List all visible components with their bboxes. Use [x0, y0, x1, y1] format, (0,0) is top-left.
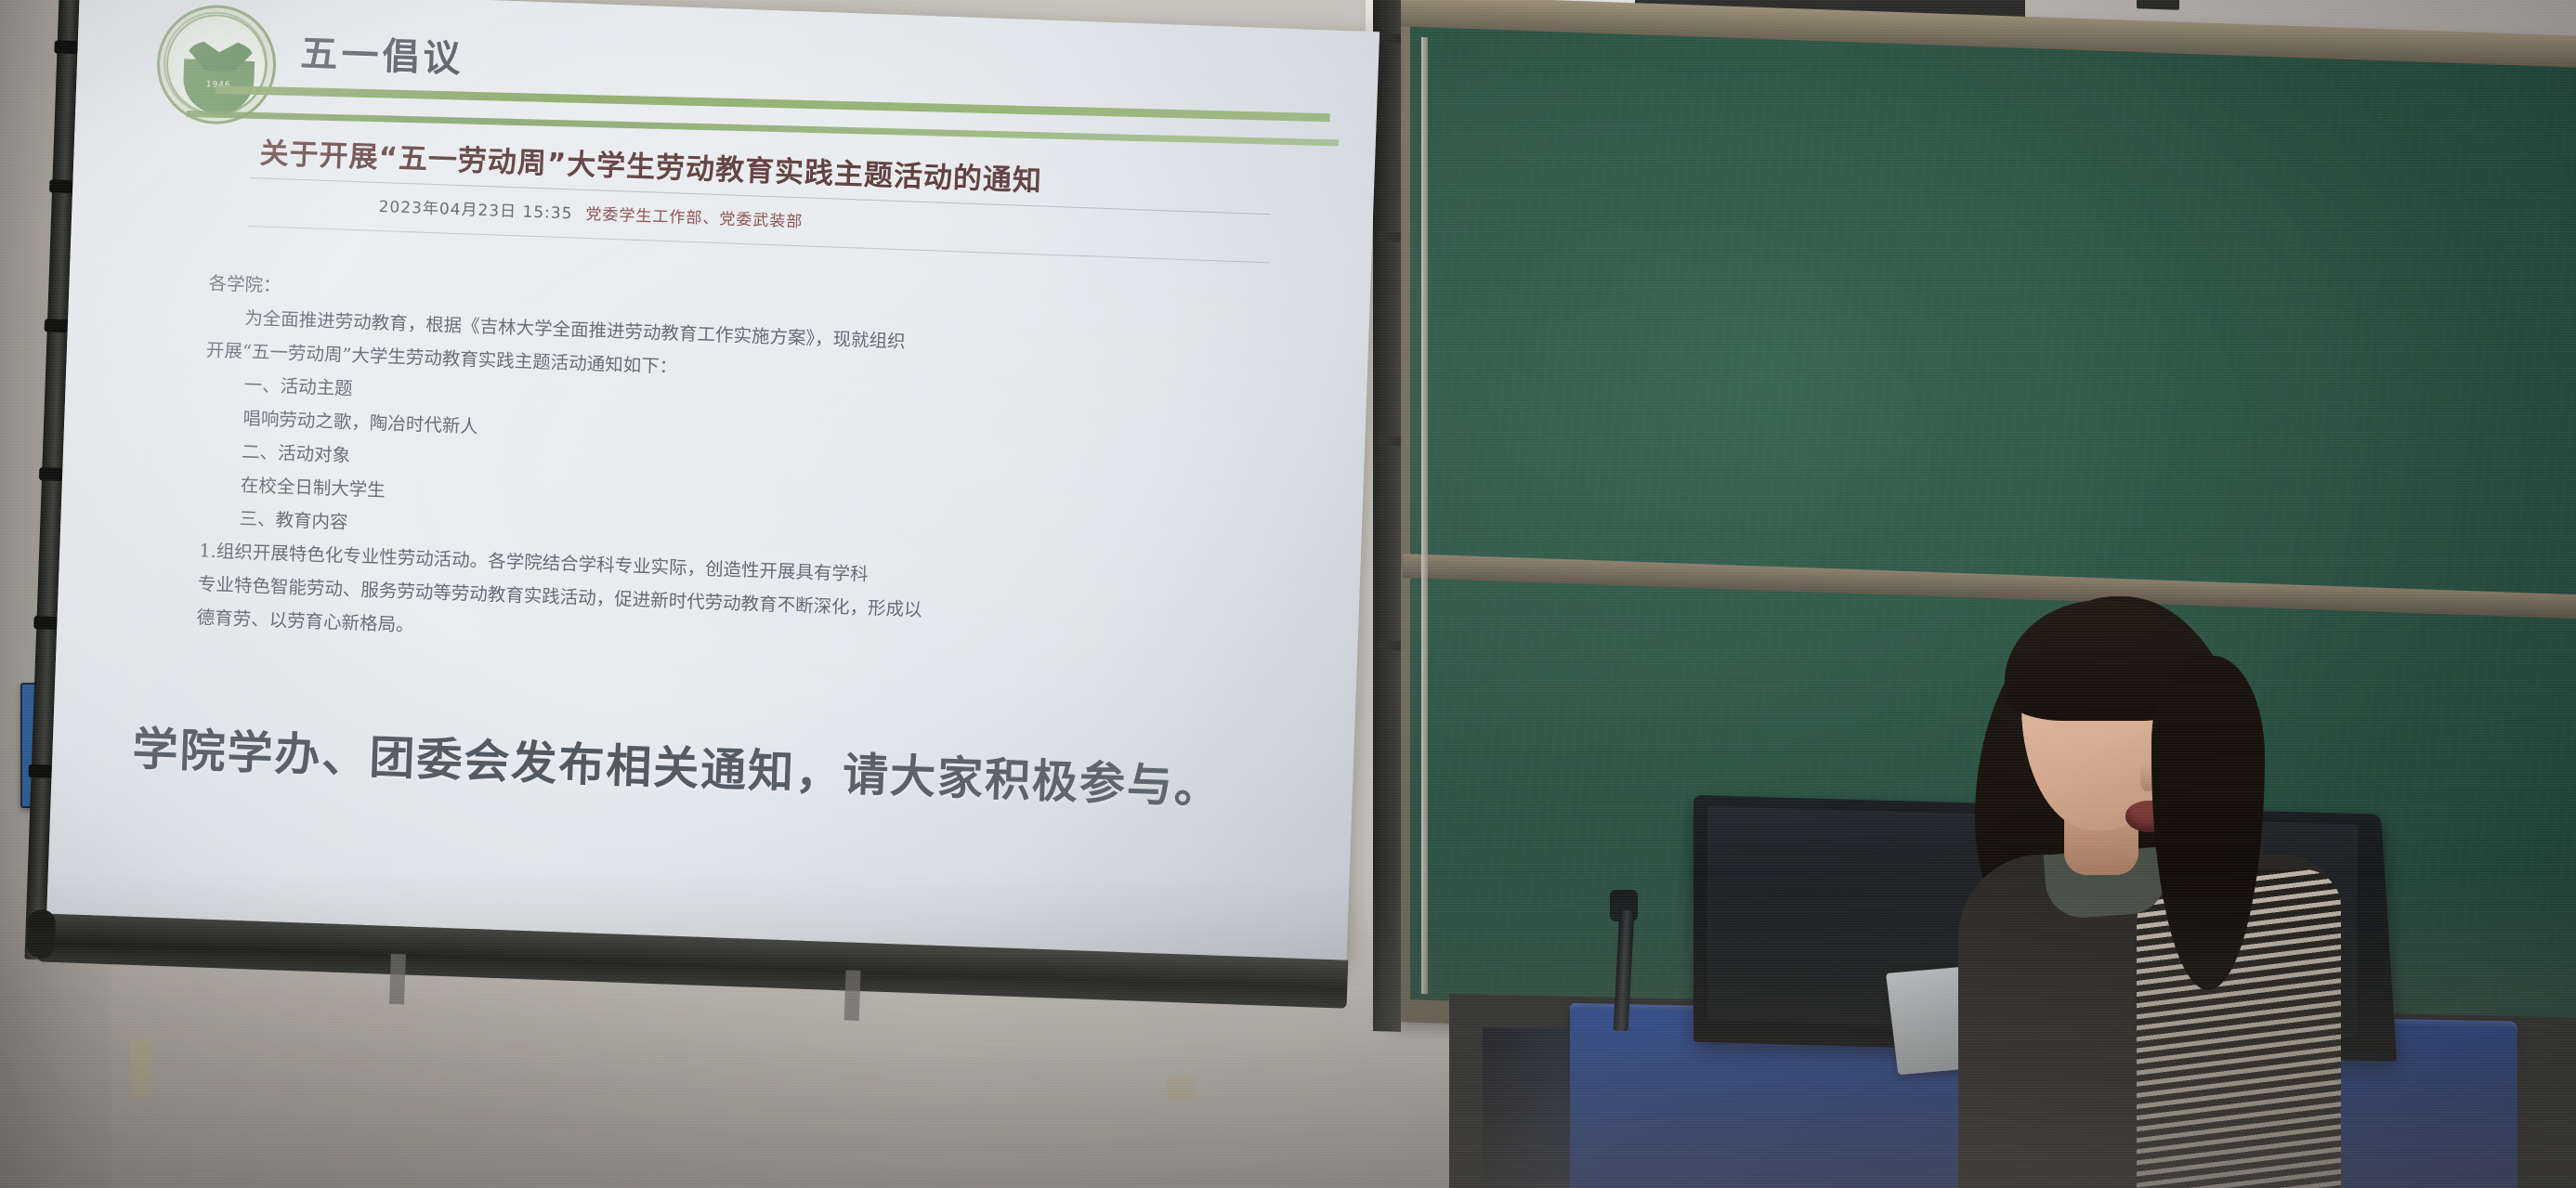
lower-wall-shadow	[0, 872, 2576, 1188]
board-clip	[2137, 0, 2179, 10]
notice-meta: 2023年04月23日 15:35党委学生工作部、党委武装部	[378, 193, 1214, 246]
notice-date: 2023年04月23日 15:35	[378, 198, 573, 223]
lecture-hall-scene: 1946 五一倡议 关于开展“五一劳动周”大学生劳动教育实践主题活动的通知 20…	[0, 0, 2576, 1188]
notice-department: 党委学生工作部、党委武装部	[585, 205, 804, 231]
notice-body: 各学院： 为全面推进劳动教育，根据《吉林大学全面推进劳动教育工作实施方案》，现就…	[196, 267, 1276, 672]
presentation-slide: 1946 五一倡议 关于开展“五一劳动周”大学生劳动教育实践主题活动的通知 20…	[46, 0, 1380, 960]
slide-highlight-text: 学院学办、团委会发布相关通知，请大家积极参与。	[131, 712, 1303, 820]
board-clip	[1379, 641, 1401, 651]
chalkboard-slider-track[interactable]	[1421, 37, 1428, 994]
university-emblem-icon: 1946	[155, 3, 278, 125]
screen-surface: 1946 五一倡议 关于开展“五一劳动周”大学生劳动教育实践主题活动的通知 20…	[46, 0, 1380, 960]
projection-screen: 1946 五一倡议 关于开展“五一劳动周”大学生劳动教育实践主题活动的通知 20…	[37, 0, 1400, 1016]
slide-header-title: 五一倡议	[300, 23, 465, 83]
